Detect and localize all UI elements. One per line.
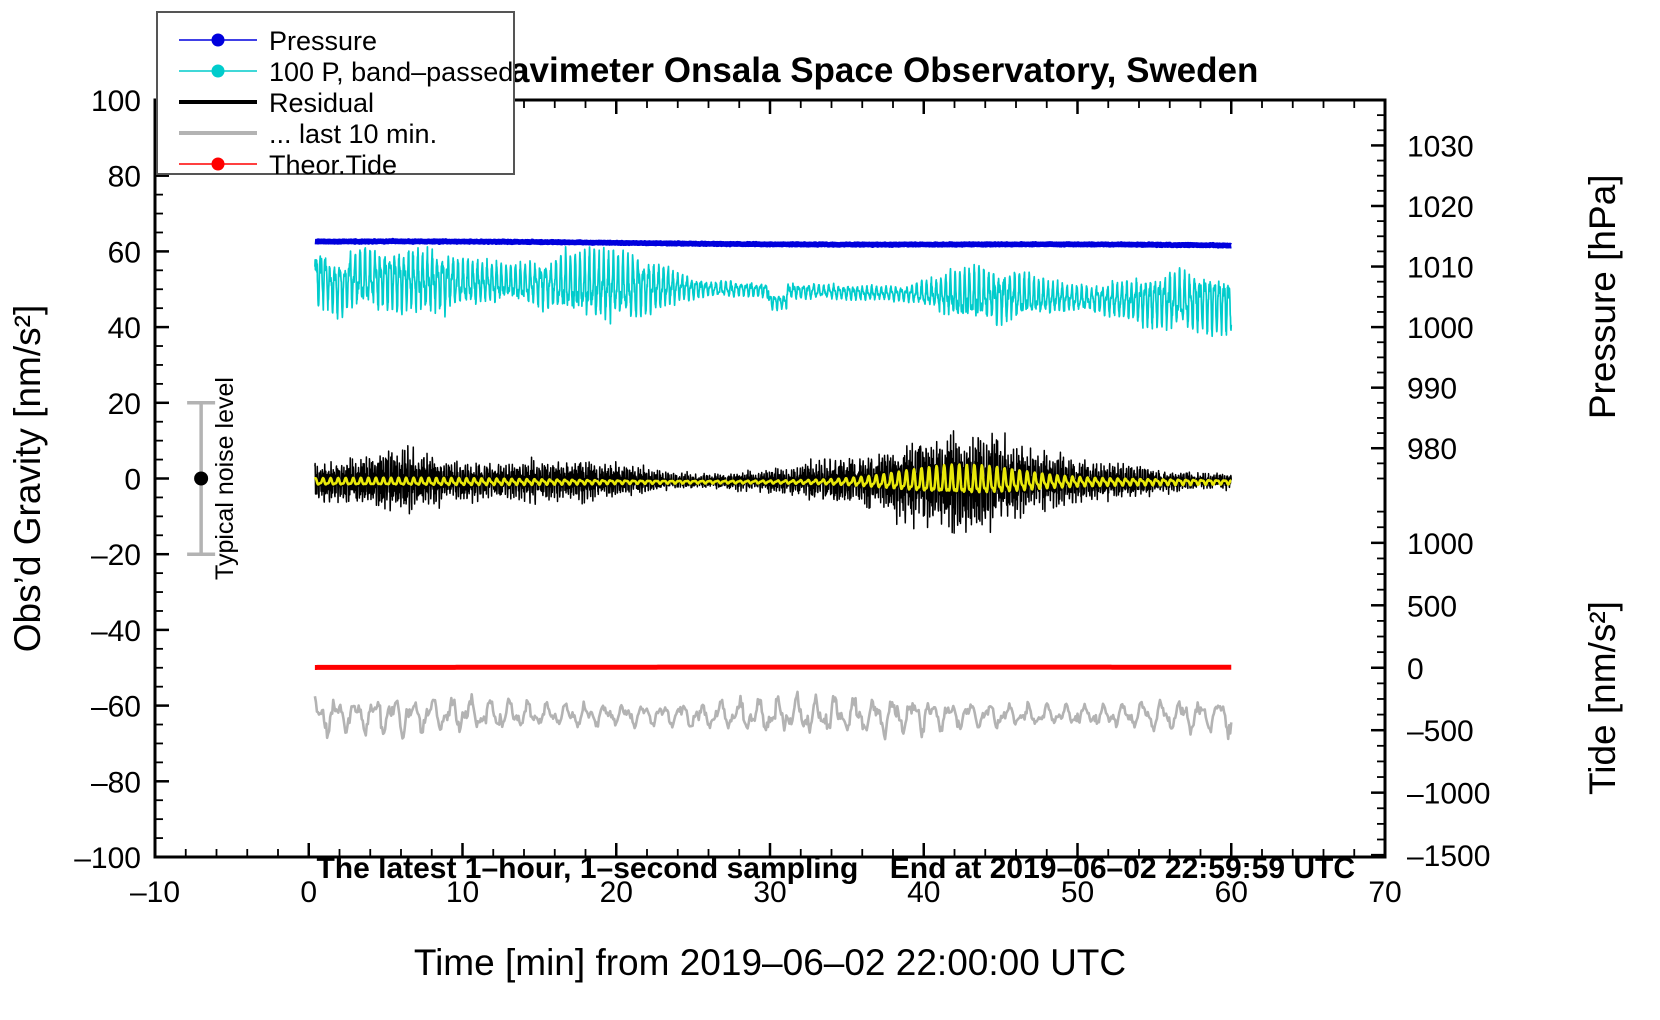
end-time-note: End at 2019–06–02 22:59:59 UTC [890, 852, 1355, 885]
pressure-tick-label: 990 [1407, 373, 1457, 406]
pressure-tick-label: 1010 [1407, 252, 1474, 285]
gravimeter-chart: –10010203040506070 100806040200–20–40–60… [0, 0, 1660, 1020]
noise-center-marker [194, 472, 208, 486]
tide-tick-label: 500 [1407, 590, 1457, 623]
legend-label-5[interactable]: Theor.Tide [269, 150, 397, 180]
chart-legend[interactable]: Pressure100 P, band–passedResidual... la… [157, 12, 514, 180]
x-tick-label: 0 [300, 876, 317, 909]
y-tick-label: 100 [91, 85, 141, 118]
tide-axis-title: Tide [nm/s²] [1582, 601, 1623, 795]
tide-tick-label: 1000 [1407, 528, 1474, 561]
y-axis-title: Obs’d Gravity [nm/s²] [7, 305, 48, 652]
x-axis-title: Time [min] from 2019–06–02 22:00:00 UTC [414, 942, 1126, 983]
legend-label-1[interactable]: Pressure [269, 26, 377, 56]
pressure-tick-label: 1030 [1407, 130, 1474, 163]
y-tick-label: 60 [108, 236, 141, 269]
legend-label-2[interactable]: 100 P, band–passed [269, 57, 513, 87]
x-tick-label: 70 [1368, 876, 1401, 909]
y-tick-label: 20 [108, 388, 141, 421]
legend-marker-1 [212, 34, 225, 47]
pressure-tick-label: 980 [1407, 433, 1457, 466]
tide-tick-label: 0 [1407, 653, 1424, 686]
legend-marker-2 [212, 65, 225, 78]
tide-tick-label: –1000 [1407, 778, 1490, 811]
chart-canvas: –10010203040506070 100806040200–20–40–60… [0, 0, 1660, 1020]
y-tick-label: –40 [91, 615, 141, 648]
y-tick-label: –80 [91, 766, 141, 799]
sampling-note: The latest 1–hour, 1–second sampling [316, 852, 858, 885]
tide-tick-label: –1500 [1407, 840, 1490, 873]
y-tick-label: –100 [74, 842, 141, 875]
x-tick-label: –10 [130, 876, 180, 909]
chart-annotations: The latest 1–hour, 1–second samplingEnd … [316, 852, 1355, 885]
pressure-tick-label: 1000 [1407, 312, 1474, 345]
y-tick-label: 80 [108, 161, 141, 194]
y-tick-label: –60 [91, 691, 141, 724]
pressure-axis-title: Pressure [hPa] [1582, 174, 1623, 419]
legend-marker-5 [212, 158, 225, 171]
noise-level-label: Typical noise level [211, 377, 239, 580]
pressure-tick-label: 1020 [1407, 191, 1474, 224]
tide-tick-label: –500 [1407, 715, 1474, 748]
legend-label-4[interactable]: ... last 10 min. [269, 119, 437, 149]
y-tick-label: –20 [91, 539, 141, 572]
y-tick-label: 40 [108, 312, 141, 345]
y-tick-label: 0 [124, 464, 141, 497]
legend-label-3[interactable]: Residual [269, 88, 374, 118]
